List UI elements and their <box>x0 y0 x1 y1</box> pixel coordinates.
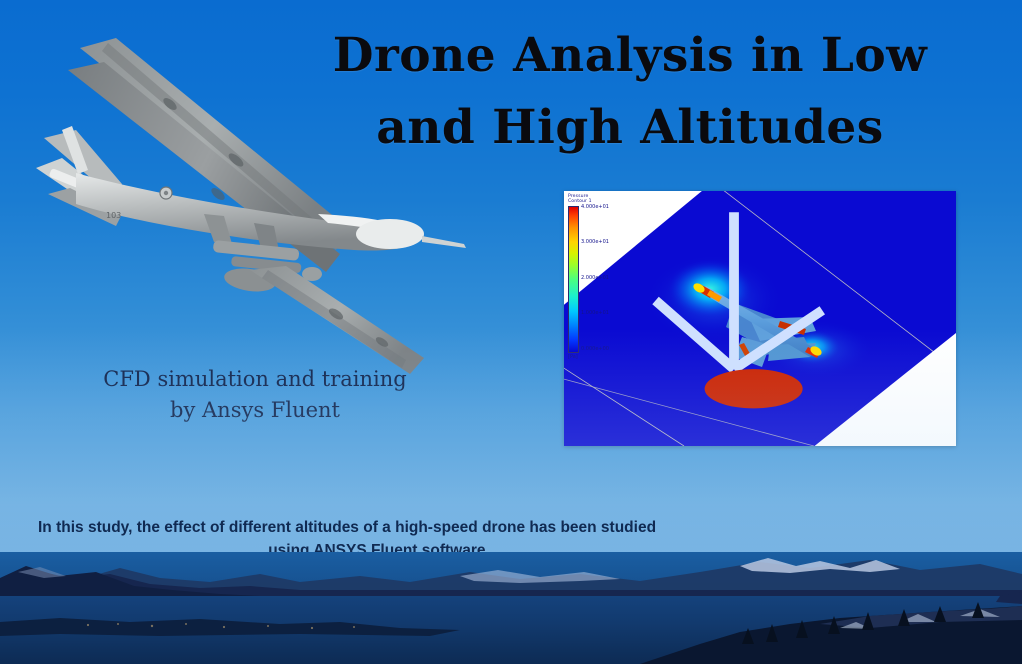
title-line-2: and High Altitudes <box>300 92 960 164</box>
landscape-photo <box>0 552 1022 664</box>
poster-canvas: 103 Drone Analysis in Low <box>0 0 1022 664</box>
cfd-contour-panel: Pressure Contour 1 4.000e+01 3.000e+01 2… <box>564 191 956 446</box>
caption-line-1: In this study, the effect of different a… <box>38 516 720 539</box>
page-title: Drone Analysis in Low and High Altitudes <box>300 20 960 164</box>
subtitle-line-2: by Ansys Fluent <box>95 395 415 426</box>
drone-wing-lower <box>250 266 424 374</box>
subtitle: CFD simulation and training by Ansys Flu… <box>95 364 415 426</box>
subtitle-line-1: CFD simulation and training <box>95 364 415 395</box>
title-line-1: Drone Analysis in Low <box>300 20 960 92</box>
drone-nose-probe <box>422 236 466 248</box>
svg-text:103: 103 <box>106 211 121 220</box>
